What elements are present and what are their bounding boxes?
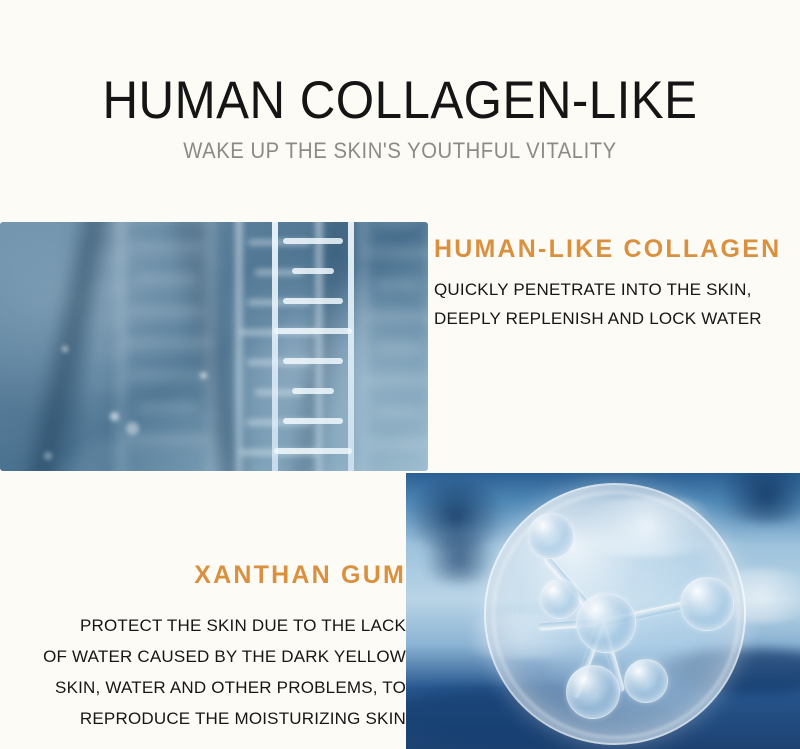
molecule-atom-satellite <box>566 665 620 719</box>
molecule-atom-satellite <box>624 659 668 703</box>
section-xanthan-heading: XANTHAN GUM <box>24 560 406 590</box>
dna-helix-image <box>0 222 428 471</box>
page-title: HUMAN COLLAGEN-LIKE <box>28 72 772 130</box>
body-line: QUICKLY PENETRATE INTO THE SKIN, <box>434 275 786 304</box>
page-header: HUMAN COLLAGEN-LIKE WAKE UP THE SKIN'S Y… <box>0 72 800 164</box>
molecule-atom-satellite <box>680 577 734 631</box>
molecule-atom-center <box>576 593 636 653</box>
dna-particle <box>44 452 52 460</box>
dna-helix-primary <box>272 222 354 471</box>
infographic-canvas: HUMAN COLLAGEN-LIKE WAKE UP THE SKIN'S Y… <box>0 0 800 749</box>
body-line: REPRODUCE THE MOISTURIZING SKIN <box>24 703 406 734</box>
body-line: SKIN, WATER AND OTHER PROBLEMS, TO <box>24 672 406 703</box>
dna-particle <box>200 372 207 379</box>
section-collagen-body: QUICKLY PENETRATE INTO THE SKIN, DEEPLY … <box>434 275 786 333</box>
molecule-atom-satellite <box>528 513 574 559</box>
dna-particle <box>126 422 139 435</box>
dna-helix-edge <box>360 222 428 471</box>
section-xanthan-text: XANTHAN GUM PROTECT THE SKIN DUE TO THE … <box>24 560 406 734</box>
section-collagen-text: HUMAN-LIKE COLLAGEN QUICKLY PENETRATE IN… <box>434 234 786 333</box>
body-line: OF WATER CAUSED BY THE DARK YELLOW <box>24 641 406 672</box>
dna-particle <box>110 412 119 421</box>
section-collagen-heading: HUMAN-LIKE COLLAGEN <box>434 234 786 264</box>
section-xanthan-body: PROTECT THE SKIN DUE TO THE LACK OF WATE… <box>24 610 406 734</box>
body-line: PROTECT THE SKIN DUE TO THE LACK <box>24 610 406 641</box>
body-line: DEEPLY REPLENISH AND LOCK WATER <box>434 304 786 333</box>
molecule-atom-satellite <box>540 579 580 619</box>
dna-particle <box>62 346 68 352</box>
water-bubble-image <box>406 473 800 749</box>
page-subtitle: WAKE UP THE SKIN'S YOUTHFUL VITALITY <box>32 138 768 164</box>
